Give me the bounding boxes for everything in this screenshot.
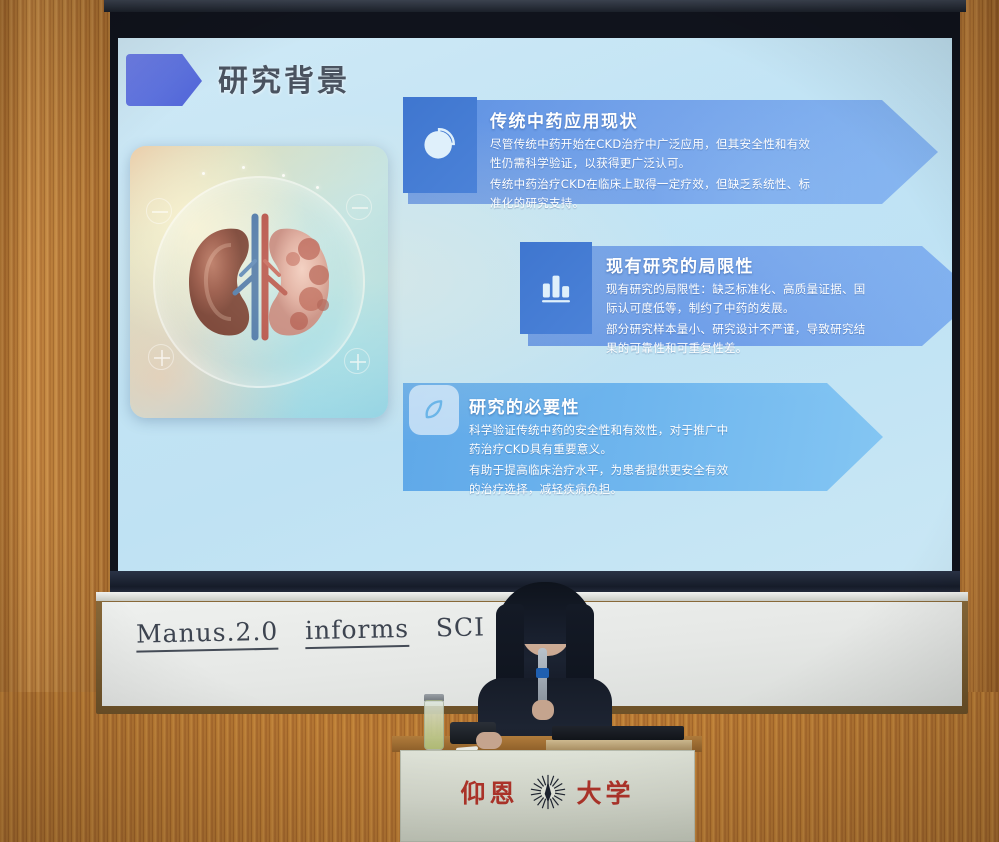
block-1-text: 传统中药应用现状 尽管传统中药开始在CKD治疗中广泛应用，但其安全性和有效 性仍… — [490, 107, 890, 215]
handwriting-word-1: Manus.2.0 — [136, 617, 279, 653]
microphone-band — [536, 668, 549, 678]
podium-logo: 仰恩 — [401, 773, 694, 811]
presentation-slide: 研究背景 — [118, 38, 952, 571]
leaf-icon — [415, 391, 453, 429]
icon-badge-3 — [409, 385, 459, 435]
icon-badge-1 — [403, 97, 477, 193]
block-2-paragraph-1: 现有研究的局限性：缺乏标准化、高质量证据、国 际认可度低等，制约了中药的发展。 — [606, 280, 946, 318]
projector-screen-rail — [104, 0, 966, 12]
presenter-hand-left — [476, 732, 502, 749]
podium: 仰恩 — [400, 750, 695, 842]
sparkle — [202, 172, 205, 175]
pie-chart-icon — [418, 121, 462, 165]
sunburst-emblem-icon — [529, 773, 567, 811]
water-bottle — [424, 700, 444, 750]
university-name-right: 大学 — [577, 774, 635, 810]
content-block-1: 传统中药应用现状 尽管传统中药开始在CKD治疗中广泛应用，但其安全性和有效 性仍… — [408, 100, 938, 204]
projector-screen: 研究背景 — [118, 38, 952, 571]
laptop-screen — [552, 726, 684, 740]
handwriting-word-2: informs — [305, 614, 410, 649]
block-1-paragraph-1: 尽管传统中药开始在CKD治疗中广泛应用，但其安全性和有效 性仍需科学验证，以获得… — [490, 135, 890, 173]
kidney-image-card — [130, 146, 388, 418]
sparkle — [316, 186, 319, 189]
lecture-hall-scene: 研究背景 — [0, 0, 999, 842]
block-3-paragraph-2: 有助于提高临床治疗水平，为患者提供更安全有效 的治疗选择，减轻疾病负担。 — [469, 461, 829, 499]
hud-pulse-icon — [146, 198, 172, 224]
block-3-title: 研究的必要性 — [469, 393, 829, 418]
hud-cluster-icon — [344, 348, 370, 374]
block-1-title: 传统中药应用现状 — [490, 107, 890, 132]
slide-title: 研究背景 — [218, 56, 350, 100]
icon-badge-2 — [520, 242, 592, 334]
sparkle — [242, 166, 245, 169]
university-name-left: 仰恩 — [460, 774, 518, 810]
block-3-paragraph-1: 科学验证传统中药的安全性和有效性，对于推广中 药治疗CKD具有重要意义。 — [469, 421, 829, 459]
kidney-illustration-icon — [159, 187, 359, 377]
block-2-text: 现有研究的局限性 现有研究的局限性：缺乏标准化、高质量证据、国 际认可度低等，制… — [606, 252, 946, 360]
block-3-text: 研究的必要性 科学验证传统中药的安全性和有效性，对于推广中 药治疗CKD具有重要… — [469, 393, 829, 501]
hud-target-icon — [346, 194, 372, 220]
whiteboard-handwriting: Manus.2.0 informs SCI — [136, 612, 486, 648]
laptop-base — [546, 740, 692, 750]
presenter-hand-right — [532, 700, 554, 720]
content-block-3: 研究的必要性 科学验证传统中药的安全性和有效性，对于推广中 药治疗CKD具有重要… — [403, 383, 883, 491]
block-2-paragraph-2: 部分研究样本量小、研究设计不严谨，导致研究结 果的可靠性和可重复性差。 — [606, 320, 946, 358]
bar-chart-icon — [535, 266, 577, 308]
hud-plus-icon — [148, 344, 174, 370]
block-2-title: 现有研究的局限性 — [606, 252, 946, 277]
content-block-2: 现有研究的局限性 现有研究的局限性：缺乏标准化、高质量证据、国 际认可度低等，制… — [528, 246, 952, 346]
block-1-paragraph-2: 传统中药治疗CKD在临床上取得一定疗效，但缺乏系统性、标 准化的研究支持。 — [490, 175, 890, 213]
sparkle — [282, 174, 285, 177]
title-pentagon-shape — [126, 54, 202, 106]
